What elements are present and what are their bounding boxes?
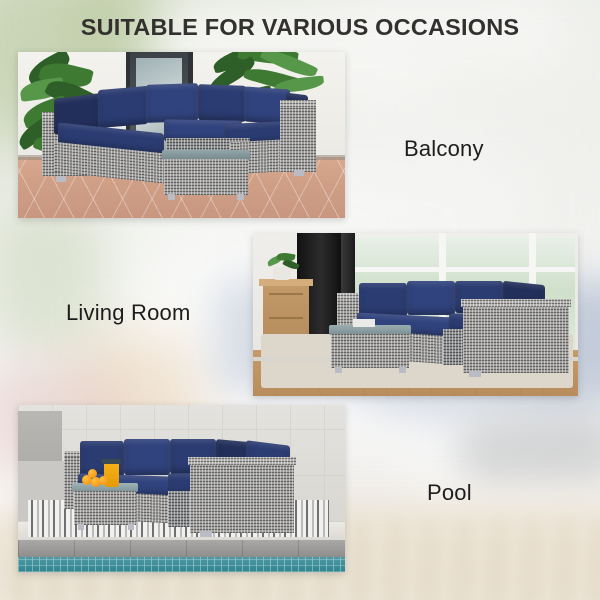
pool-cushion-back-2 bbox=[124, 439, 170, 475]
pool-table-foot-left bbox=[78, 524, 84, 530]
pool-table-foot-right bbox=[128, 524, 134, 530]
panel-living-room bbox=[253, 233, 578, 396]
cushion-back-4 bbox=[198, 84, 246, 122]
living-sofa-corner-arm bbox=[463, 303, 569, 373]
sofa-right-arm-top bbox=[280, 100, 316, 107]
table-foot-left bbox=[168, 194, 175, 200]
label-balcony: Balcony bbox=[404, 136, 484, 162]
pool-table-body bbox=[74, 491, 136, 525]
panel-pool bbox=[18, 405, 345, 572]
balcony-scene bbox=[18, 52, 345, 218]
page-title: SUITABLE FOR VARIOUS OCCASIONS bbox=[0, 14, 600, 41]
dresser-drawer-line-1 bbox=[269, 293, 303, 295]
living-sofa-corner-arm-top bbox=[461, 299, 571, 307]
living-cushion-back-1 bbox=[359, 283, 407, 317]
orange-3 bbox=[99, 476, 108, 485]
dresser-drawer-line-2 bbox=[269, 317, 303, 319]
table-books bbox=[353, 319, 375, 327]
pitcher-lid bbox=[102, 459, 121, 464]
living-table-foot-right bbox=[399, 367, 406, 373]
plant-foliage bbox=[267, 253, 299, 271]
sofa-right-arm bbox=[280, 102, 316, 172]
table-body bbox=[164, 159, 248, 195]
background-block-blur bbox=[455, 415, 600, 485]
orange-4 bbox=[88, 469, 97, 478]
label-living-room: Living Room bbox=[66, 300, 190, 326]
background-plant-blur bbox=[0, 215, 110, 355]
panel-balcony bbox=[18, 52, 345, 218]
pool-sofa-foot bbox=[200, 531, 212, 537]
sofa-foot-right bbox=[294, 170, 304, 176]
living-cushion-back-2 bbox=[407, 281, 455, 315]
living-table-body bbox=[331, 334, 409, 368]
living-sofa-foot bbox=[469, 371, 481, 377]
cushion-back-3 bbox=[146, 83, 198, 123]
pool-water-tiles bbox=[18, 557, 345, 572]
pool-sofa-corner-arm-top bbox=[188, 457, 296, 465]
promo-image: SUITABLE FOR VARIOUS OCCASIONS bbox=[0, 0, 600, 600]
label-pool: Pool bbox=[427, 480, 472, 506]
table-foot-right bbox=[237, 194, 244, 200]
cushion-back-2 bbox=[98, 86, 148, 128]
sofa-foot-left bbox=[56, 176, 66, 182]
living-room-scene bbox=[253, 233, 578, 396]
living-table-foot-left bbox=[335, 367, 342, 373]
window-transom bbox=[353, 267, 575, 272]
pool-sofa-corner-arm bbox=[190, 461, 294, 533]
pool-coping-joints bbox=[18, 540, 345, 557]
pool-scene bbox=[18, 405, 345, 572]
dresser-top bbox=[259, 279, 313, 286]
